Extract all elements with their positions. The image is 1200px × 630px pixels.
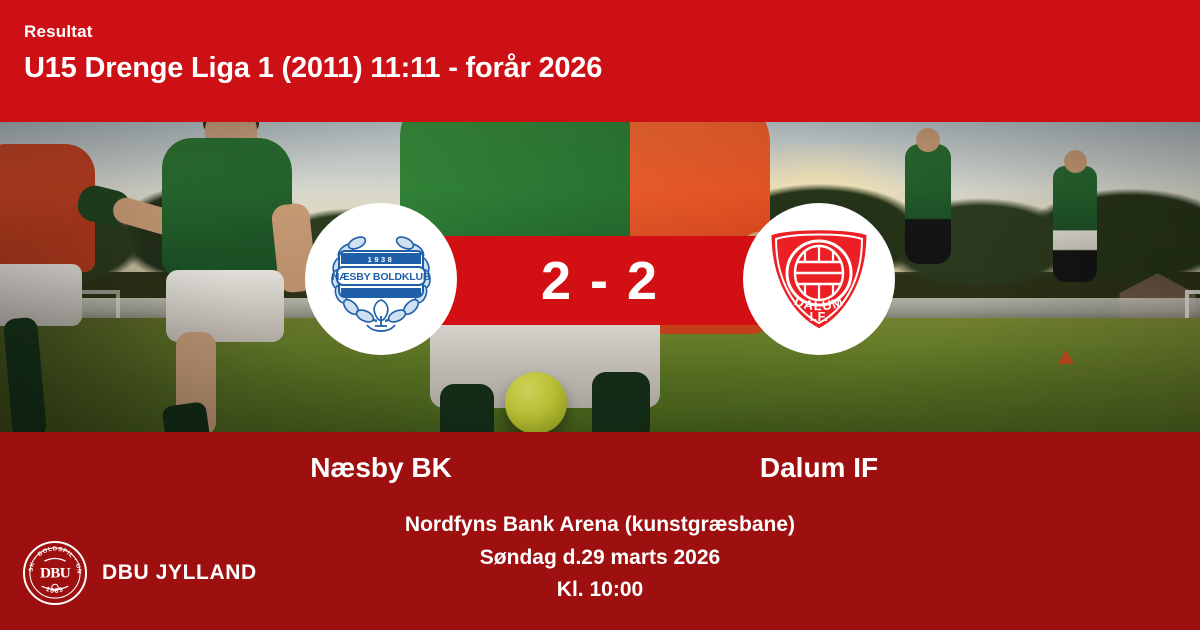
dalum-if-crest-icon: DALUM I.F. xyxy=(760,220,878,338)
header-bar: Resultat U15 Drenge Liga 1 (2011) 11:11 … xyxy=(0,0,1200,122)
crest-sub-text: I.F. xyxy=(810,310,829,324)
home-team-crest: 1938 NÆSBY BOLDKLUB xyxy=(305,203,457,355)
away-team-crest: DALUM I.F. xyxy=(743,203,895,355)
match-venue: Nordfyns Bank Arena (kunstgræsbane) xyxy=(0,508,1200,542)
crest-name-text: NÆSBY BOLDKLUB xyxy=(332,271,431,283)
team-names-row: Næsby BK Dalum IF xyxy=(0,448,1200,492)
page-title: U15 Drenge Liga 1 (2011) 11:11 - forår 2… xyxy=(24,51,1200,85)
dbu-logo: DANSK · BOLDSPIL · UNION 1889 DBU DBU JY… xyxy=(22,540,257,606)
dbu-seal-icon: DANSK · BOLDSPIL · UNION 1889 DBU xyxy=(22,540,88,606)
home-team-name: Næsby BK xyxy=(211,448,551,488)
dbu-org-name: DBU JYLLAND xyxy=(102,561,257,585)
score-value: 2 - 2 xyxy=(541,254,659,308)
crest-year-text: 1938 xyxy=(368,255,395,264)
score-band: 2 - 2 xyxy=(400,236,800,325)
header-kicker: Resultat xyxy=(24,22,1200,42)
match-result-card: Resultat U15 Drenge Liga 1 (2011) 11:11 … xyxy=(0,0,1200,630)
dbu-seal-initials: DBU xyxy=(40,565,71,582)
away-team-name: Dalum IF xyxy=(649,448,989,488)
naesby-boldklub-crest-icon: 1938 NÆSBY BOLDKLUB xyxy=(319,217,443,341)
